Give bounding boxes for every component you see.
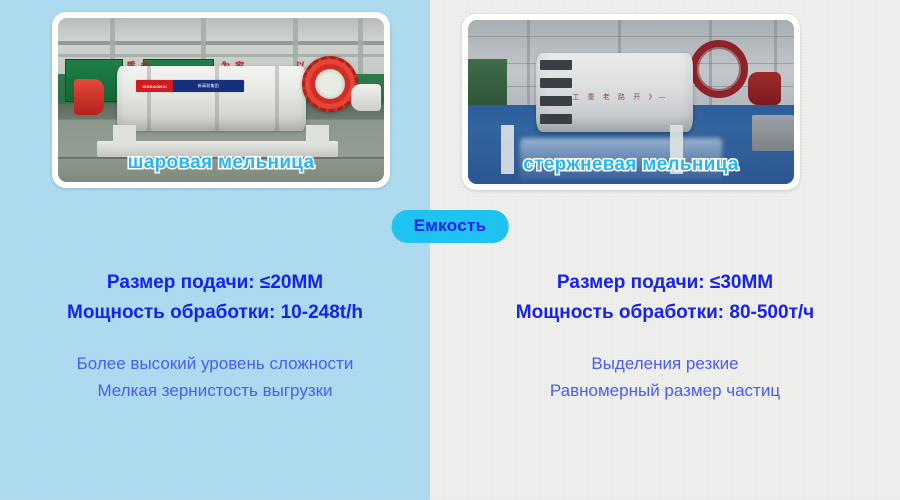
rod-mill-description-list: Выделения резкие Равномерный размер част… [430,350,900,404]
processing-capacity-spec: Мощность обработки: 80-500т/ч [430,298,900,328]
roof-girder [58,41,384,45]
drum-rib [540,60,573,70]
discharge-endcap [351,84,380,112]
drum-seam [147,66,151,132]
drum-seam [215,66,219,132]
drum-seam [275,66,279,132]
rod-mill-photo-card[interactable]: 工 重 老 路 开 》— стержневая мельница [462,14,800,190]
description-item: Более высокий уровень сложности [0,350,430,377]
mill-drum [117,66,306,132]
capacity-badge[interactable]: Емкость [392,210,509,243]
feed-size-spec: Размер подачи: ≤20MM [0,268,430,298]
feed-cone [74,79,103,115]
rod-mill-caption: стержневая мельница [468,154,794,176]
drum-rib [540,78,573,88]
drum-rib [540,114,573,124]
rod-mill-spec-column: Размер подачи: ≤30MM Мощность обработки:… [430,268,900,404]
discharge-cone [748,72,781,105]
brand-logo-cjk: 新高耐集团 [173,80,244,91]
brand-logo-cjk-text: 新高耐集团 [198,83,219,89]
wall-column [527,20,530,105]
feed-size-spec: Размер подачи: ≤30MM [430,268,900,298]
ring-gear [690,40,748,98]
ball-mill-description-list: Более высокий уровень сложности Мелкая з… [0,350,430,404]
wall-seam [468,36,794,37]
ring-gear [302,56,358,112]
brand-logo-latin: XINGAONAI [136,80,173,91]
description-item: Равномерный размер частиц [430,377,900,404]
ball-mill-caption: шаровая мельница [58,152,384,174]
rod-mill-photo: 工 重 老 路 开 》— стержневая мельница [468,20,794,184]
drum-body-text: 工 重 老 路 开 》— [572,92,668,102]
ball-mill-spec-column: Размер подачи: ≤20MM Мощность обработки:… [0,268,430,404]
ball-mill-photo-card[interactable]: 质 争 为 家 以 业 为 XINGAONAI 新高耐集团 [52,12,390,188]
ball-mill-photo: 质 争 为 家 以 业 为 XINGAONAI 新高耐集团 [58,18,384,182]
comparison-infographic: 质 争 为 家 以 业 为 XINGAONAI 新高耐集团 [0,0,900,500]
brand-logo-latin-text: XINGAONAI [142,84,166,89]
mill-support-leg [306,125,329,146]
description-item: Мелкая зернистость выгрузки [0,377,430,404]
drive-motor [752,115,794,151]
description-item: Выделения резкие [430,350,900,377]
mill-support-leg [113,125,136,146]
green-curtain [468,59,507,105]
roof-column [358,18,363,74]
drum-rib [540,96,573,106]
processing-capacity-spec: Мощность обработки: 10-248t/h [0,298,430,328]
gear-hub [315,69,345,99]
brand-logo: XINGAONAI 新高耐集团 [136,80,244,91]
drum-rib-group [540,56,573,128]
